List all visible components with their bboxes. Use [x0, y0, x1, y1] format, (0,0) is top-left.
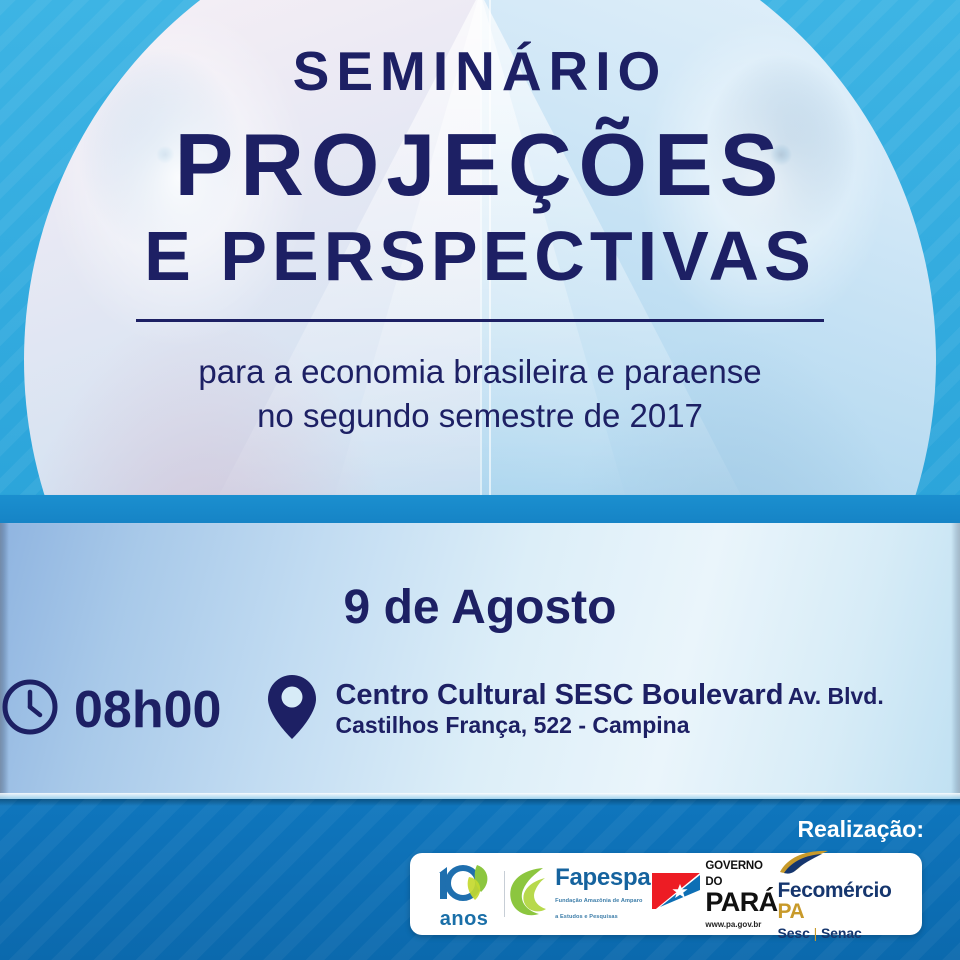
hero-photo-section: SEMINÁRIO PROJEÇÕES E PERSPECTIVAS para …	[0, 0, 960, 509]
logo-fecomercio-pa: Fecomércio PA Sesc | Senac	[778, 849, 909, 940]
hero-text-block: SEMINÁRIO PROJEÇÕES E PERSPECTIVAS para …	[0, 0, 960, 437]
poster-root: SEMINÁRIO PROJEÇÕES E PERSPECTIVAS para …	[0, 0, 960, 960]
event-venue-text: Centro Cultural SESC Boulevard Av. Blvd.…	[335, 679, 960, 740]
logo-fapespa: Fapespa Fundação Amazônia de Amparo a Es…	[505, 864, 650, 925]
band-left-shading	[0, 523, 9, 799]
title-projecoes: PROJEÇÕES	[0, 121, 960, 209]
logo-governo-do-para: GOVERNO DO PARÁ www.pa.gov.br	[650, 857, 777, 931]
para-big-line: PARÁ	[705, 887, 777, 917]
ten-anos-word: anos	[440, 909, 489, 929]
title-divider-rule	[136, 319, 824, 322]
subtitle-block: para a economia brasileira e paraense no…	[0, 350, 960, 437]
fecomercio-state: PA	[778, 900, 805, 923]
ten-anos-mark-icon	[429, 859, 499, 908]
band-right-shading	[951, 523, 960, 799]
fapespa-tagline-line-1: Fundação Amazônia de Amparo	[555, 898, 642, 904]
map-pin-icon	[265, 672, 319, 747]
para-url: www.pa.gov.br	[705, 920, 761, 929]
fecomercio-wordmark: Fecomércio PA	[778, 880, 909, 922]
para-wordmark: GOVERNO DO PARÁ www.pa.gov.br	[705, 857, 777, 931]
para-top-line: GOVERNO DO	[705, 860, 762, 888]
sponsor-logo-card: anos Fapespa Fundação Amazônia de Amparo…	[410, 853, 922, 935]
fapespa-wordmark: Fapespa Fundação Amazônia de Amparo a Es…	[555, 866, 650, 922]
footer-top-shadow	[0, 799, 960, 806]
sesc-label: Sesc	[778, 925, 810, 941]
event-time: 08h00	[74, 684, 221, 736]
fapespa-tagline-line-2: a Estudos e Pesquisas	[555, 914, 618, 920]
event-place-group: Centro Cultural SESC Boulevard Av. Blvd.…	[265, 672, 960, 747]
event-time-group: 08h00	[0, 677, 221, 742]
fapespa-name: Fapespa	[555, 864, 650, 891]
fecomercio-swoosh-icon	[778, 849, 840, 880]
para-flag-icon	[650, 869, 702, 918]
fapespa-tagline: Fundação Amazônia de Amparo a Estudos e …	[555, 898, 642, 920]
subtitle-line-1: para a economia brasileira e paraense	[0, 350, 960, 394]
event-date: 9 de Agosto	[0, 580, 960, 635]
eyebrow-seminario: SEMINÁRIO	[0, 44, 960, 99]
subtitle-line-2: no segundo semestre de 2017	[0, 394, 960, 438]
fecomercio-name: Fecomércio	[778, 879, 892, 902]
title-e-perspectivas: E PERSPECTIVAS	[0, 221, 960, 291]
subbrand-separator: |	[814, 925, 818, 941]
logo-10-anos: anos	[424, 859, 504, 929]
fecomercio-subbrands: Sesc | Senac	[778, 926, 862, 940]
venue-name: Centro Cultural SESC Boulevard	[335, 679, 783, 711]
event-info-band	[0, 523, 960, 799]
clock-icon	[0, 677, 60, 742]
realizacao-label: Realização:	[797, 816, 924, 843]
fapespa-leaf-icon	[505, 864, 551, 925]
event-meta-row: 08h00 Centro Cultural SESC Boulevard Av.…	[0, 672, 960, 747]
senac-label: Senac	[821, 925, 862, 941]
hero-bottom-strip	[0, 495, 960, 523]
